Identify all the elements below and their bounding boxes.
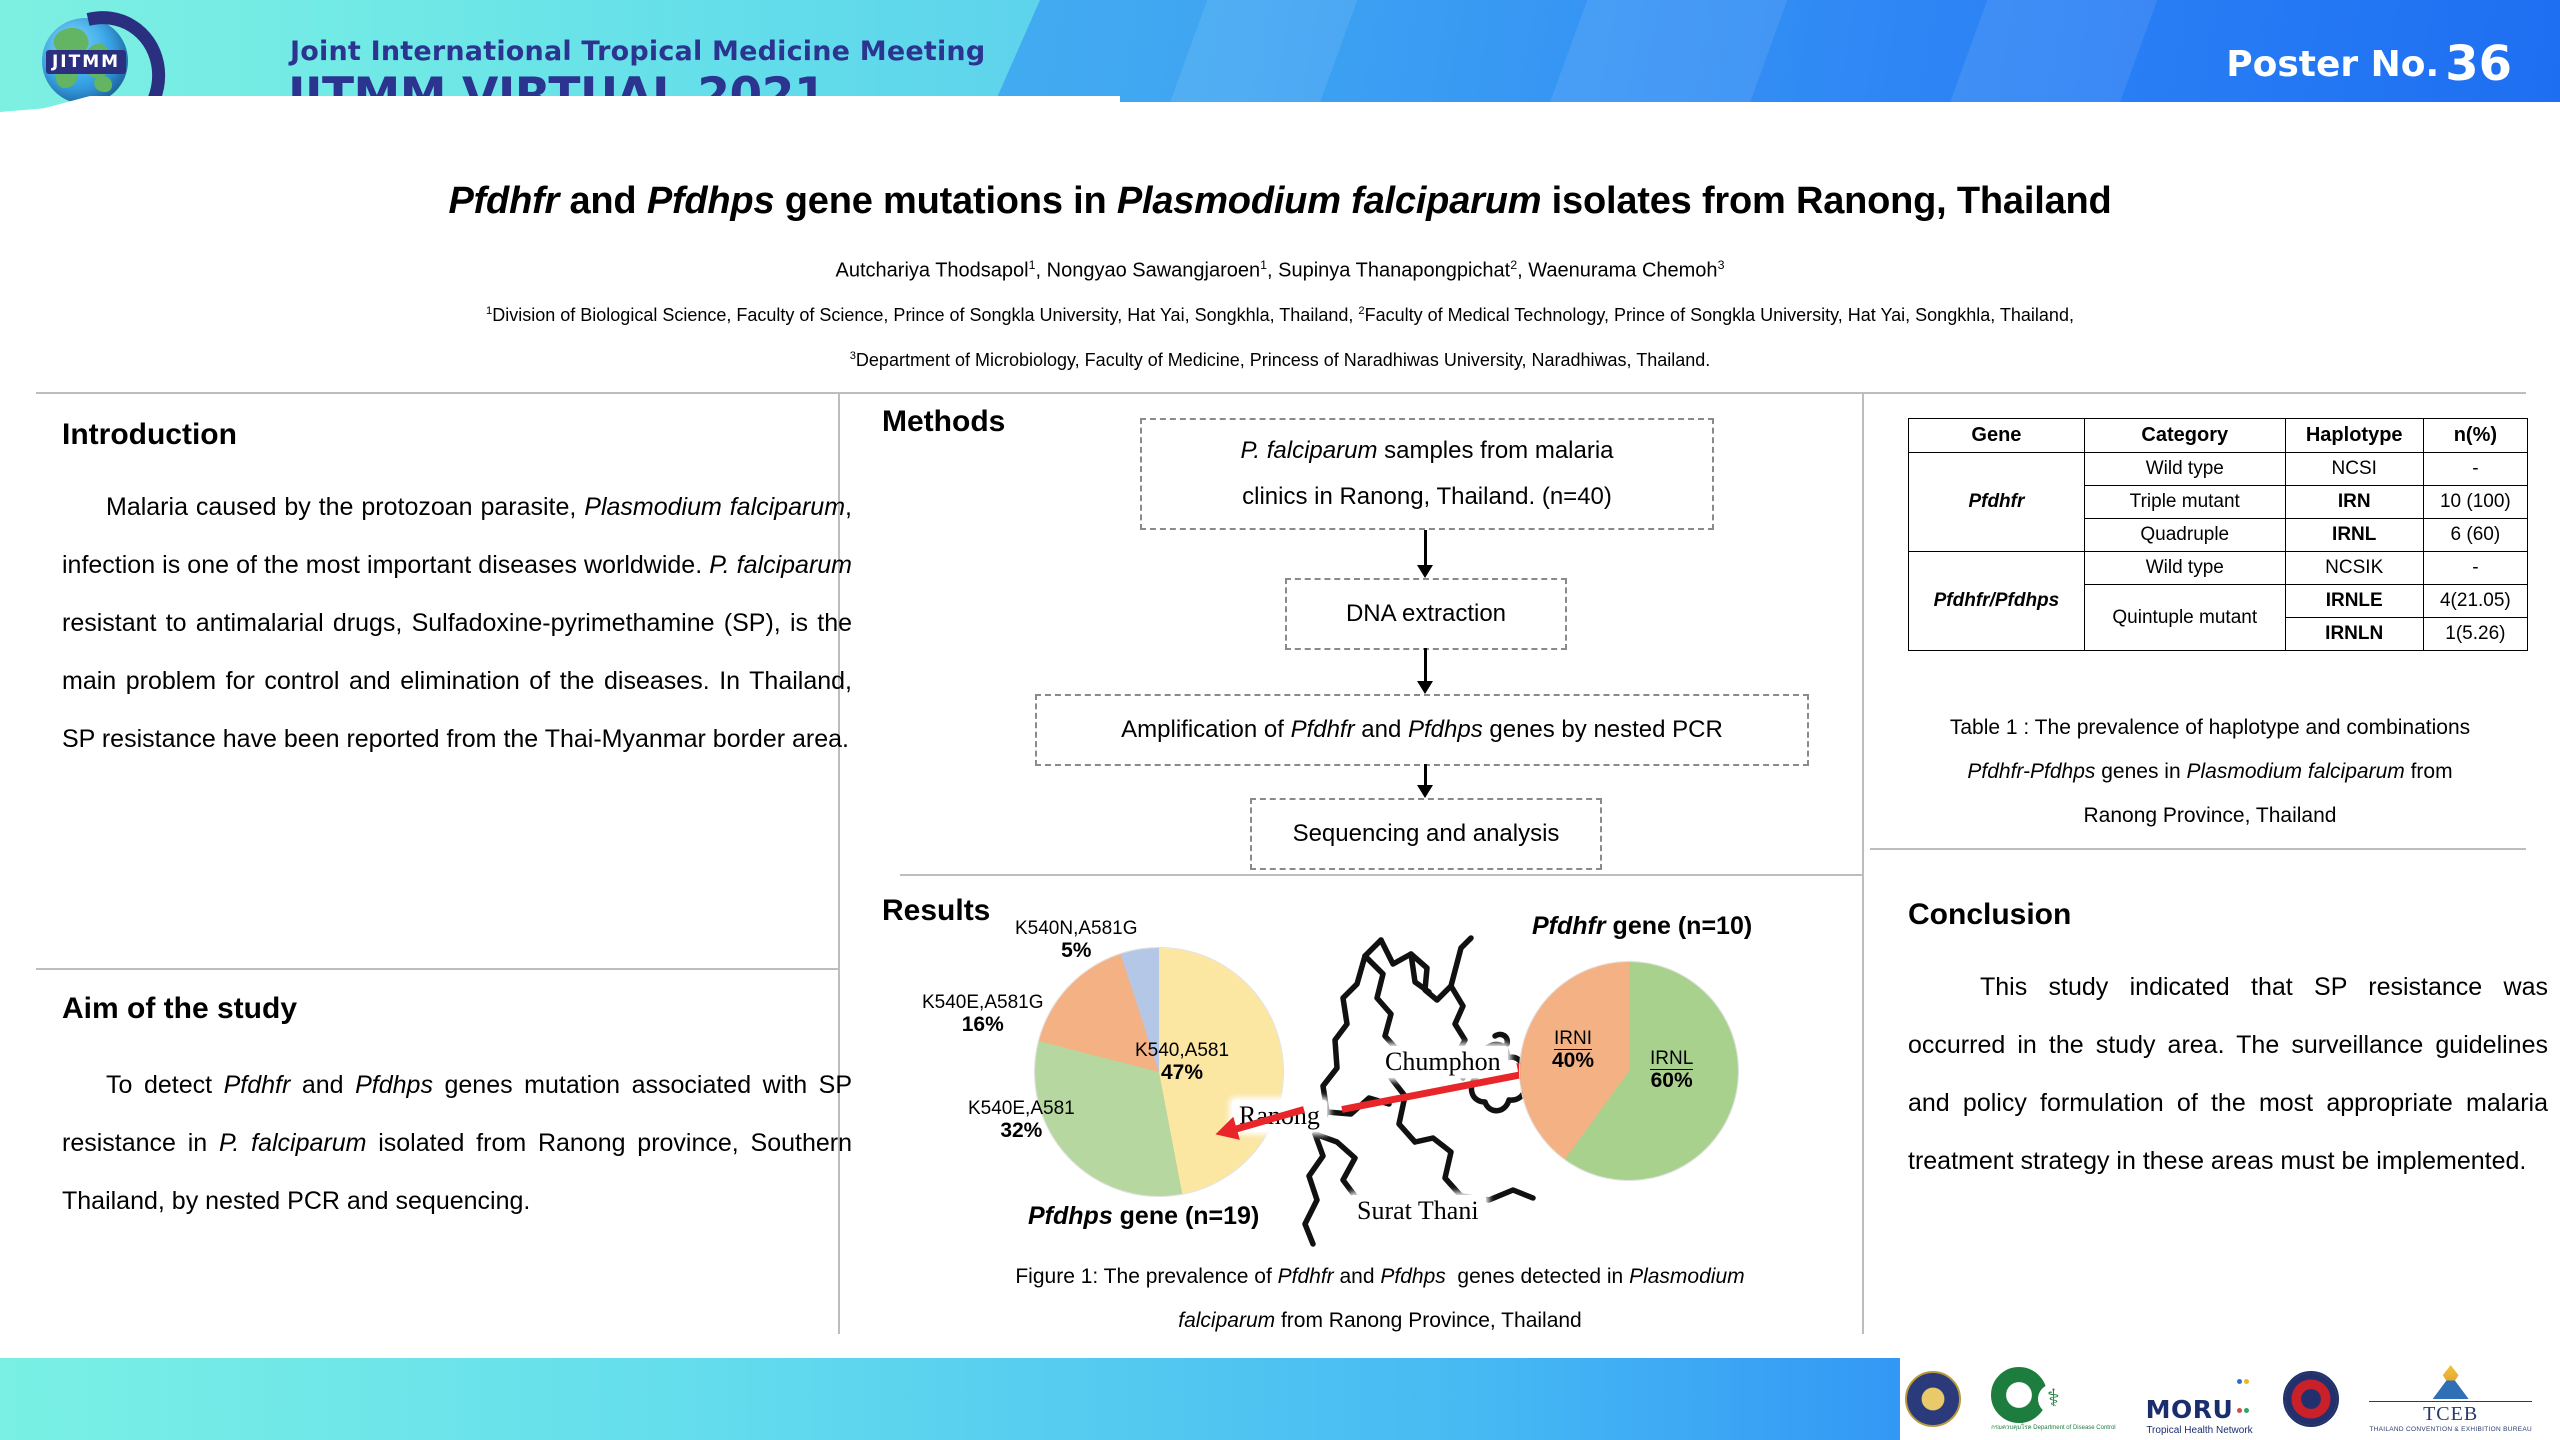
right-section-divider	[1870, 848, 2526, 850]
map-label-chumphon: Chumphon	[1378, 1046, 1508, 1078]
mahidol-seal-icon	[1905, 1371, 1961, 1427]
table-row: Pfdhfr Wild type NCSI -	[1909, 453, 2528, 486]
flow-step-3-gene2: Pfdhps	[1408, 716, 1483, 743]
table-cell-n: 6 (60)	[2423, 519, 2527, 552]
department-disease-control-seal-icon: ⚕ กรมควบคุมโรค Department of Disease Con…	[1991, 1367, 2115, 1432]
aim-section: Aim of the study To detect Pfdhfr and Pf…	[62, 992, 852, 1230]
conclusion-section: Conclusion This study indicated that SP …	[1908, 898, 2548, 1190]
pfdhfr-slice-label-irnl: IRNL60%	[1650, 1048, 1693, 1093]
jitmm-logo-text: JITMM	[46, 50, 126, 74]
poster-number-block: Poster No.36	[2226, 36, 2512, 92]
table-cell-category: Quintuple mutant	[2084, 585, 2285, 651]
flow-arrow-1	[1424, 530, 1427, 566]
flow-step-3-gene1: Pfdhfr	[1291, 716, 1355, 743]
flow-step-1-line2: clinics in Ranong, Thailand. (n=40)	[1242, 474, 1612, 520]
table-header-row: Gene Category Haplotype n(%)	[1909, 419, 2528, 453]
meeting-name: Joint International Tropical Medicine Me…	[290, 36, 985, 67]
flow-step-1-species: P. falciparum	[1240, 437, 1377, 464]
haplotype-table: Gene Category Haplotype n(%) Pfdhfr Wild…	[1908, 418, 2528, 651]
moru-name: MORU	[2146, 1395, 2234, 1424]
affiliation-line-1: 1Division of Biological Science, Faculty…	[0, 305, 2560, 326]
title-gene-2: Pfdhps	[647, 180, 775, 222]
tceb-subtitle: THAILAND CONVENTION & EXHIBITION BUREAU	[2369, 1426, 2532, 1433]
table-cell-category: Quadruple	[2084, 519, 2285, 552]
table-cell-category: Wild type	[2084, 552, 2285, 585]
flow-step-1-rest: samples from malaria	[1377, 437, 1613, 464]
pfdhfr-slice-label-irni: IRNI40%	[1552, 1028, 1594, 1073]
conclusion-body: This study indicated that SP resistance …	[1908, 958, 2548, 1190]
title-species: Plasmodium falciparum	[1117, 180, 1541, 222]
table-cell-category: Triple mutant	[2084, 486, 2285, 519]
conclusion-text: This study indicated that SP resistance …	[1908, 973, 2548, 1175]
table-cell-n: 1(5.26)	[2423, 618, 2527, 651]
table-col-n: n(%)	[2423, 419, 2527, 453]
table-caption-line3: Ranong Province, Thailand	[1880, 794, 2540, 838]
tropmed-seal-icon	[2283, 1371, 2339, 1427]
header-curve-left	[0, 90, 1120, 136]
table-cell-n: 10 (100)	[2423, 486, 2527, 519]
table-caption-line1: Table 1 : The prevalence of haplotype an…	[1880, 706, 2540, 750]
table-cell-haplotype: IRNL	[2285, 519, 2423, 552]
introduction-heading: Introduction	[62, 418, 852, 452]
aim-body: To detect Pfdhfr and Pfdhps genes mutati…	[62, 1056, 852, 1230]
introduction-body: Malaria caused by the protozoan parasite…	[62, 478, 852, 768]
flow-step-samples: P. falciparum samples from malaria clini…	[1140, 418, 1714, 530]
moru-subtitle: Tropical Health Network	[2146, 1425, 2254, 1436]
tceb-logo-icon: TCEB THAILAND CONVENTION & EXHIBITION BU…	[2369, 1365, 2532, 1433]
table-cell-n: -	[2423, 552, 2527, 585]
author-list: Autchariya Thodsapol1, Nongyao Sawangjar…	[0, 258, 2560, 283]
top-divider	[36, 392, 2526, 394]
flow-step-sequencing: Sequencing and analysis	[1250, 798, 1602, 870]
flow-step-3-c: and	[1355, 716, 1408, 743]
table-cell-n: 4(21.05)	[2423, 585, 2527, 618]
table-row: Pfdhfr/Pfdhps Wild type NCSIK -	[1909, 552, 2528, 585]
results-figure: K540,A58147% K540E,A58132% K540E,A581G16…	[880, 900, 1880, 1230]
flow-step-dna-extraction: DNA extraction	[1285, 578, 1567, 650]
table-cell-haplotype: IRNLN	[2285, 618, 2423, 651]
poster-number-value: 36	[2445, 36, 2512, 92]
moru-logo-icon: MORU Tropical Health Network	[2146, 1362, 2254, 1436]
pfdhps-slice-label-k540n-a581g: K540N,A581G5%	[1015, 918, 1138, 963]
table-cell-gene: Pfdhfr/Pfdhps	[1909, 552, 2085, 651]
title-mid: gene mutations in	[774, 180, 1116, 222]
methods-heading: Methods	[882, 405, 1005, 439]
pfdhps-slice-label-k540e-a581g: K540E,A581G16%	[922, 992, 1043, 1037]
table-cell-haplotype: NCSIK	[2285, 552, 2423, 585]
table-cell-haplotype: IRNLE	[2285, 585, 2423, 618]
poster-number-label: Poster No.	[2226, 44, 2439, 85]
figure-caption: Figure 1: The prevalence of Pfdhfr and P…	[880, 1255, 1880, 1343]
title-and: and	[559, 180, 647, 222]
table-col-category: Category	[2084, 419, 2285, 453]
map-label-surat-thani: Surat Thani	[1350, 1195, 1486, 1227]
table-cell-haplotype: IRN	[2285, 486, 2423, 519]
page-title: Pfdhfr and Pfdhps gene mutations in Plas…	[0, 180, 2560, 223]
pfdhps-slice-label-k540e-a581: K540E,A58132%	[968, 1098, 1075, 1143]
ddc-logo-caption: กรมควบคุมโรค Department of Disease Contr…	[1991, 1425, 2115, 1432]
flow-step-3-a: Amplification of	[1121, 716, 1290, 743]
table-cell-n: -	[2423, 453, 2527, 486]
middle-section-divider	[900, 874, 1862, 876]
table-cell-gene: Pfdhfr	[1909, 453, 2085, 552]
affiliation-line-2: 3Department of Microbiology, Faculty of …	[0, 350, 2560, 371]
conclusion-heading: Conclusion	[1908, 898, 2548, 932]
flow-arrow-3	[1424, 764, 1427, 786]
table-cell-haplotype: NCSI	[2285, 453, 2423, 486]
flow-step-amplification: Amplification of Pfdhfr and Pfdhps genes…	[1035, 694, 1809, 766]
table-col-gene: Gene	[1909, 419, 2085, 453]
table-caption: Table 1 : The prevalence of haplotype an…	[1880, 706, 2540, 838]
table-cell-category: Wild type	[2084, 453, 2285, 486]
table-col-haplotype: Haplotype	[2285, 419, 2423, 453]
tceb-name: TCEB	[2369, 1401, 2532, 1426]
pfdhfr-pie-title: Pfdhfr gene (n=10)	[1532, 912, 1752, 941]
flow-arrow-2	[1424, 648, 1427, 682]
introduction-section: Introduction Malaria caused by the proto…	[62, 418, 852, 768]
sponsor-logos: ⚕ กรมควบคุมโรค Department of Disease Con…	[1905, 1362, 2532, 1436]
aim-heading: Aim of the study	[62, 992, 852, 1026]
title-tail: isolates from Ranong, Thailand	[1541, 180, 2111, 222]
left-section-divider	[36, 968, 838, 970]
poster-header: JITMM Joint International Tropical Medic…	[0, 0, 2560, 136]
flow-step-3-e: genes by nested PCR	[1483, 716, 1723, 743]
pfdhps-pie-title: Pfdhps gene (n=19)	[1028, 1202, 1259, 1231]
title-gene-1: Pfdhfr	[448, 180, 559, 222]
pfdhps-slice-label-k540a581: K540,A58147%	[1135, 1040, 1229, 1085]
